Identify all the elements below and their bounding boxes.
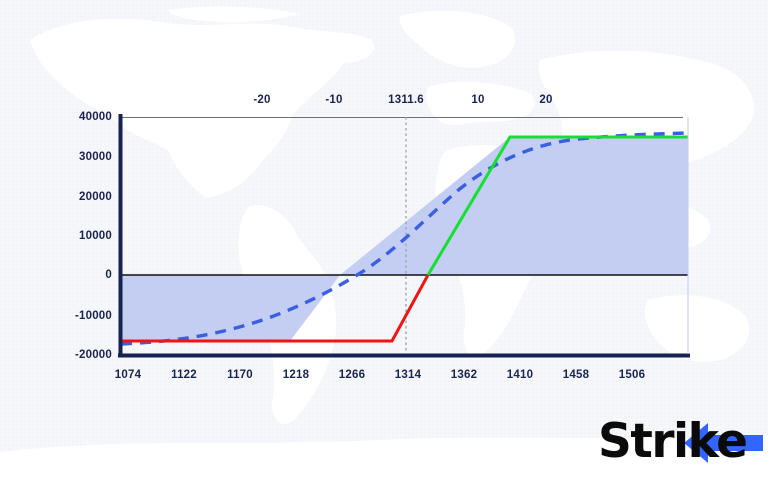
y-tick-30000: 30000 xyxy=(52,151,112,163)
top-tick-neg20: -20 xyxy=(253,94,270,106)
y-tick-neg20000: -20000 xyxy=(52,349,112,361)
payoff-plot xyxy=(0,0,768,480)
x-tick-1122: 1122 xyxy=(171,369,197,381)
x-tick-1506: 1506 xyxy=(619,369,645,381)
y-tick-10000: 10000 xyxy=(52,230,112,242)
brand-logo: Strike xyxy=(598,414,763,472)
x-tick-1266: 1266 xyxy=(339,369,365,381)
top-tick-strike: 1311.6 xyxy=(388,94,424,106)
chart-canvas: 40000 30000 20000 10000 0 -10000 -20000 … xyxy=(0,0,768,480)
x-tick-1218: 1218 xyxy=(283,369,309,381)
y-tick-40000: 40000 xyxy=(52,111,112,123)
x-tick-1314: 1314 xyxy=(395,369,421,381)
x-tick-1170: 1170 xyxy=(227,369,253,381)
top-tick-10: 10 xyxy=(471,94,484,106)
top-tick-neg10: -10 xyxy=(325,94,342,106)
y-tick-20000: 20000 xyxy=(52,191,112,203)
x-tick-1074: 1074 xyxy=(115,369,141,381)
x-tick-1458: 1458 xyxy=(563,369,589,381)
brand-name: Strike xyxy=(598,414,746,469)
x-tick-1362: 1362 xyxy=(451,369,477,381)
y-tick-0: 0 xyxy=(52,269,112,281)
y-tick-neg10000: -10000 xyxy=(52,310,112,322)
top-tick-20: 20 xyxy=(539,94,552,106)
payoff-area-negative xyxy=(121,275,340,341)
x-tick-1410: 1410 xyxy=(507,369,533,381)
